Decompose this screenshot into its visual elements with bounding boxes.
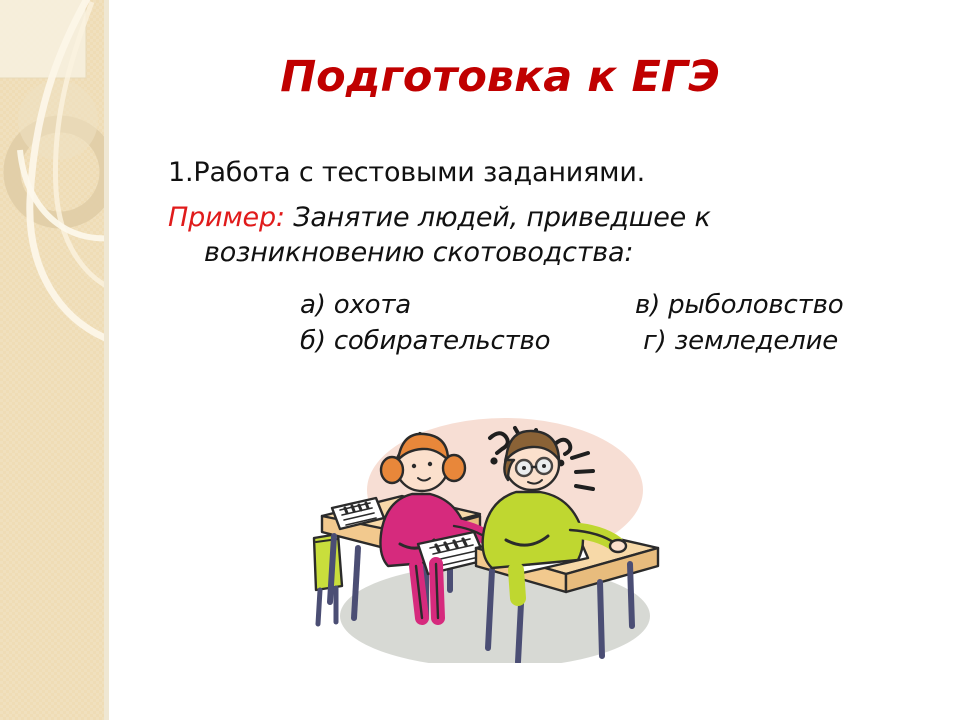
option-b[interactable]: б) собирательство	[300, 326, 631, 356]
option-v[interactable]: в) рыболовство	[635, 290, 895, 320]
slide-canvas: Подготовка к ЕГЭ 1.Работа с тестовыми за…	[0, 0, 960, 720]
body-text-block: 1.Работа с тестовыми заданиями. Пример: …	[168, 156, 938, 270]
option-row: а) охота в) рыболовство	[300, 290, 900, 326]
option-a[interactable]: а) охота	[300, 290, 635, 320]
two-students-taking-test-image	[300, 398, 690, 663]
option-row: б) собирательство г) земледелие	[300, 326, 900, 362]
example-label: Пример:	[168, 202, 285, 233]
example-line: Пример: Занятие людей, приведшее к возни…	[168, 200, 938, 270]
task-line: 1.Работа с тестовыми заданиями.	[168, 156, 938, 190]
option-g[interactable]: г) земледелие	[631, 326, 900, 356]
decorative-border	[0, 0, 110, 720]
answer-options: а) охота в) рыболовство б) собирательств…	[300, 290, 900, 362]
page-title: Подготовка к ЕГЭ	[150, 52, 850, 102]
